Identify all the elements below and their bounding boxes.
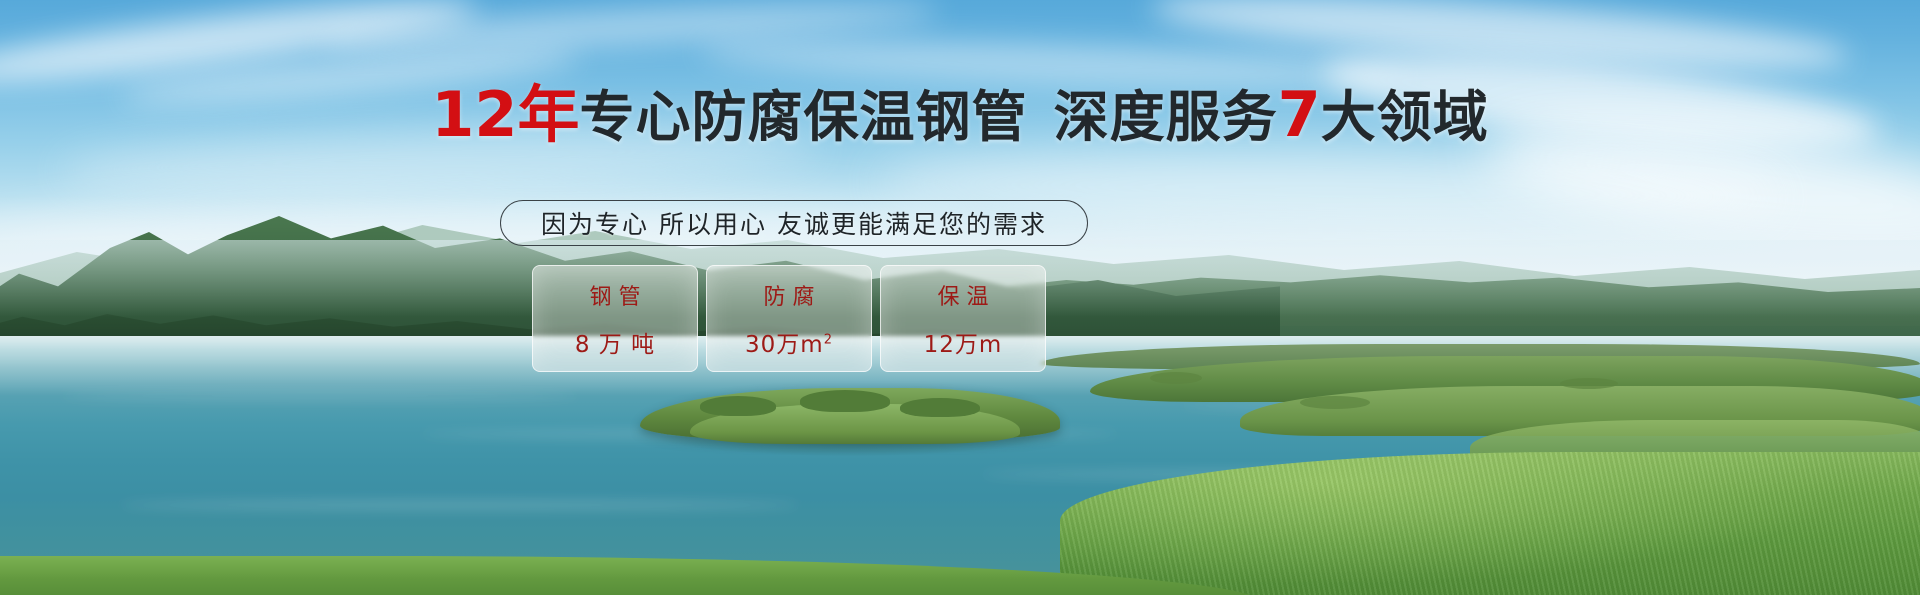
hero-banner: 12年专心防腐保温钢管深度服务7大领域 因为专心 所以用心 友诚更能满足您的需求… [0,0,1920,595]
stat-card-label: 钢管 [582,279,647,311]
headline-part-two: 深度服务 [1054,85,1278,149]
water-ripple [60,392,580,399]
island-tuft [700,396,776,416]
water-ripple [120,500,800,510]
stat-card-anticorrosion[interactable]: 防腐 30万m2 [706,265,872,372]
headline-part-one: 专心防腐保温钢管 [580,85,1028,149]
stat-card-value: 8 万 吨 [575,325,655,359]
stat-card-group: 钢管 8 万 吨 防腐 30万m2 保温 12万m [532,265,1046,372]
headline-years-unit: 年 [518,78,580,151]
subtitle-pill: 因为专心 所以用心 友诚更能满足您的需求 [500,200,1088,246]
island-tuft [800,390,890,412]
stat-card-insulation[interactable]: 保温 12万m [880,265,1046,372]
marsh-tuft [1560,378,1618,389]
stat-card-value-text: 12万m [924,332,1003,358]
headline-part-three: 大领域 [1321,85,1489,149]
stat-card-value-text: 30万m [745,332,824,358]
stat-card-value-text: 8 万 吨 [575,332,655,358]
stat-card-value: 30万m2 [745,325,833,359]
stat-card-value-superscript: 2 [824,332,833,347]
headline-years-number: 12 [431,78,517,151]
marsh-tuft [1150,372,1202,384]
stat-card-label: 保温 [930,279,995,311]
headline-fields-number: 7 [1278,78,1321,151]
stat-card-label: 防腐 [756,279,821,311]
subtitle-text: 因为专心 所以用心 友诚更能满足您的需求 [541,205,1047,241]
island-tuft [900,398,980,417]
stat-card-steel-pipe[interactable]: 钢管 8 万 吨 [532,265,698,372]
page-title: 12年专心防腐保温钢管深度服务7大领域 [0,86,1920,146]
stat-card-value: 12万m [924,325,1003,359]
marsh-tuft [1300,396,1370,409]
